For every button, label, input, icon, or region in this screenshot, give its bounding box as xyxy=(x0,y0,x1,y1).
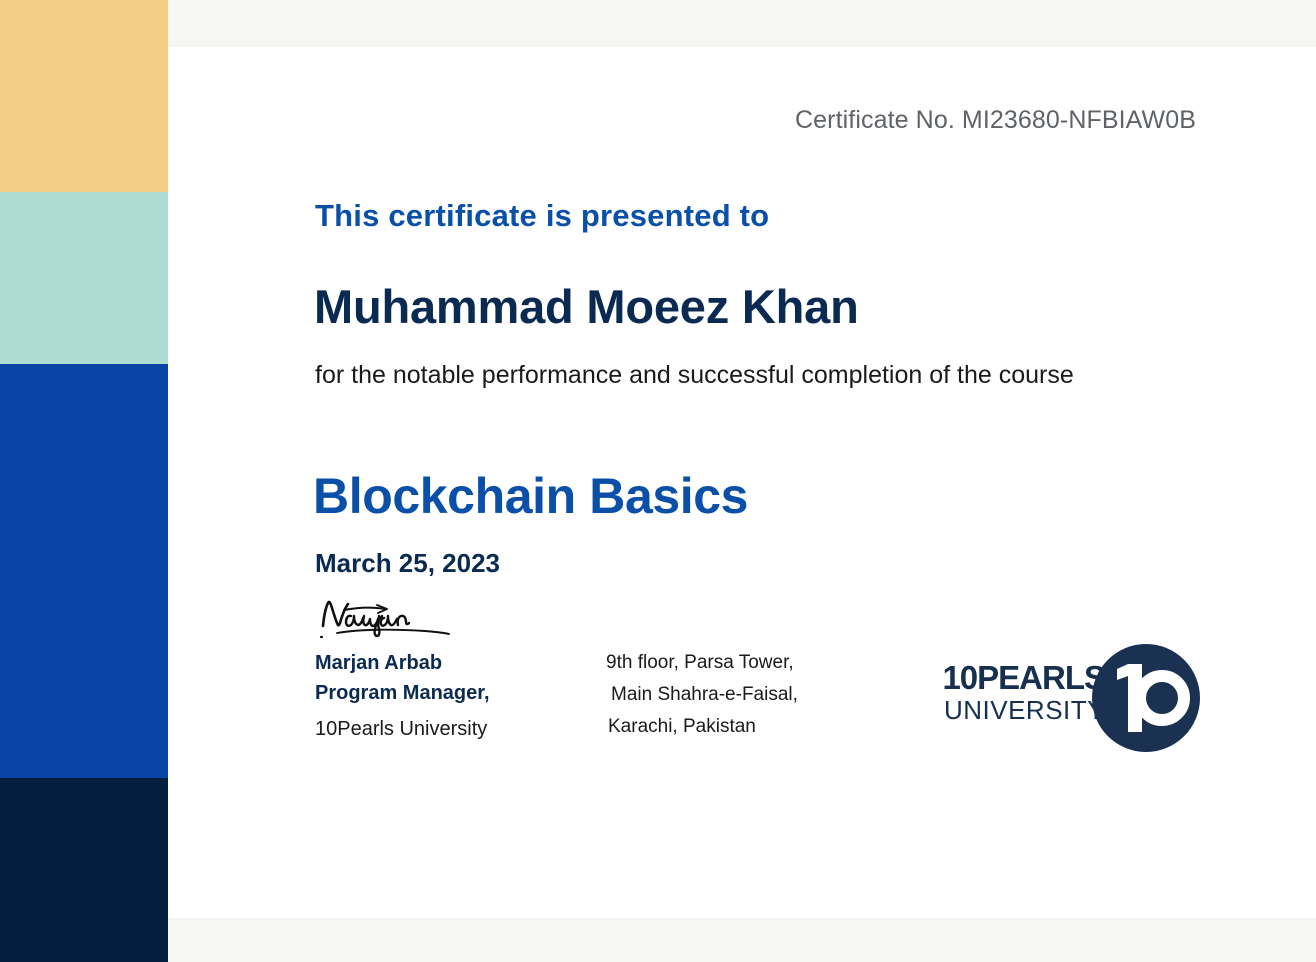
address-line-1: 9th floor, Parsa Tower, xyxy=(606,647,836,679)
address-line-3: Karachi, Pakistan xyxy=(608,711,836,743)
tenpearls-university-logo: 10PEARLS UNIVERSITY xyxy=(920,642,1210,757)
certificate-number: Certificate No. MI23680-NFBIAW0B xyxy=(795,106,1196,135)
stripe-segment-blue xyxy=(0,364,168,778)
address-block: 9th floor, Parsa Tower, Main Shahra-e-Fa… xyxy=(606,647,836,743)
citation-text: for the notable performance and successf… xyxy=(315,357,1155,393)
certificate-content: Certificate No. MI23680-NFBIAW0B This ce… xyxy=(168,47,1316,918)
logo-submark: UNIVERSITY xyxy=(920,696,1105,724)
logo-wordmark: 10PEARLS xyxy=(920,660,1105,696)
stripe-segment-navy xyxy=(0,778,168,962)
course-title: Blockchain Basics xyxy=(313,467,748,525)
logo-circle-mark-icon xyxy=(1090,642,1202,754)
signer-role: Program Manager, xyxy=(315,678,565,708)
issue-date: March 25, 2023 xyxy=(315,548,500,579)
presented-to-heading: This certificate is presented to xyxy=(315,198,769,234)
page-header-band xyxy=(168,0,1316,47)
certificate-page: Certificate No. MI23680-NFBIAW0B This ce… xyxy=(0,0,1316,962)
logo-text-group: 10PEARLS UNIVERSITY xyxy=(920,660,1105,724)
stripe-segment-orange xyxy=(0,0,168,192)
signature-block: Marjan Arbab Program Manager, 10Pearls U… xyxy=(315,596,565,744)
stripe-segment-teal xyxy=(0,192,168,364)
address-line-2: Main Shahra-e-Faisal, xyxy=(611,679,836,711)
handwritten-signature-icon xyxy=(315,596,465,641)
signer-organization: 10Pearls University xyxy=(315,714,565,744)
signer-name: Marjan Arbab xyxy=(315,648,565,678)
recipient-name: Muhammad Moeez Khan xyxy=(314,279,859,334)
page-footer-band xyxy=(168,918,1316,962)
